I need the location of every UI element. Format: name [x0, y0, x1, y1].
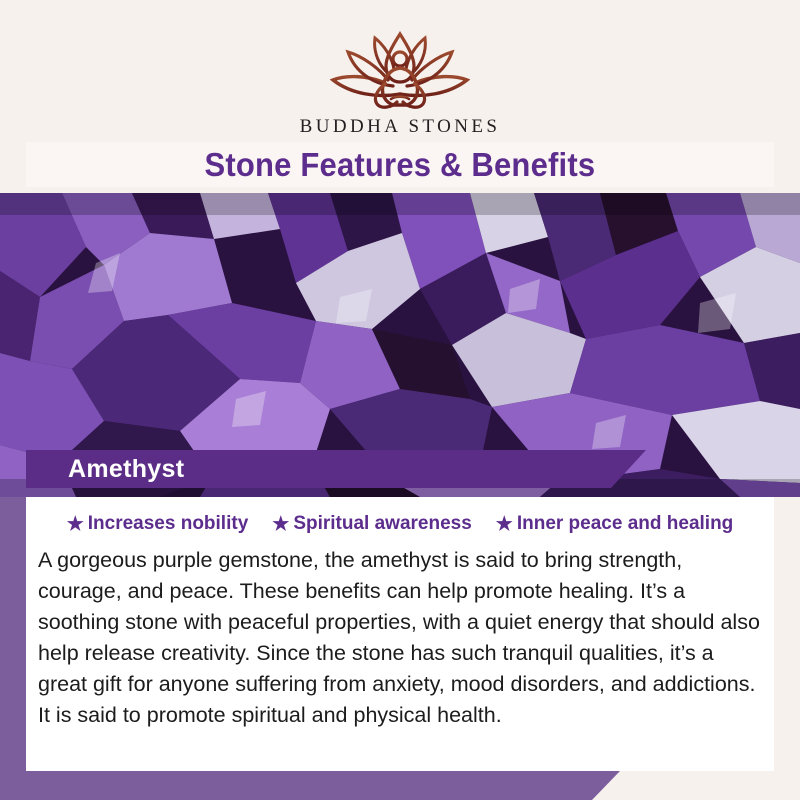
star-icon: ★ [272, 515, 289, 534]
feature-item-2: ★ Spiritual awareness [272, 513, 472, 535]
frame-border-left [0, 497, 26, 800]
lotus-meditation-figure-icon [315, 28, 485, 116]
feature-label: Inner peace and healing [517, 513, 733, 535]
header: BUDDHA STONES Stone Features & Benefits [0, 0, 800, 193]
page-title: Stone Features & Benefits [205, 146, 596, 184]
feature-list: ★ Increases nobility ★ Spiritual awarene… [26, 497, 774, 535]
star-icon: ★ [496, 515, 513, 534]
stone-name: Amethyst [68, 455, 184, 484]
brand-logo [0, 22, 800, 122]
stone-name-banner: Amethyst [26, 450, 646, 488]
content-panel: ★ Increases nobility ★ Spiritual awarene… [26, 497, 774, 771]
frame-border-bottom [0, 771, 800, 800]
stone-description: A gorgeous purple gemstone, the amethyst… [38, 545, 760, 731]
feature-label: Spiritual awareness [293, 513, 471, 535]
brand-wordmark: BUDDHA STONES [0, 116, 800, 138]
page-title-band: Stone Features & Benefits [26, 142, 774, 187]
feature-label: Increases nobility [88, 513, 249, 535]
infographic-page: BUDDHA STONES Stone Features & Benefits [0, 0, 800, 800]
star-icon: ★ [67, 515, 84, 534]
feature-item-3: ★ Inner peace and healing [496, 513, 734, 535]
feature-item-1: ★ Increases nobility [67, 513, 249, 535]
